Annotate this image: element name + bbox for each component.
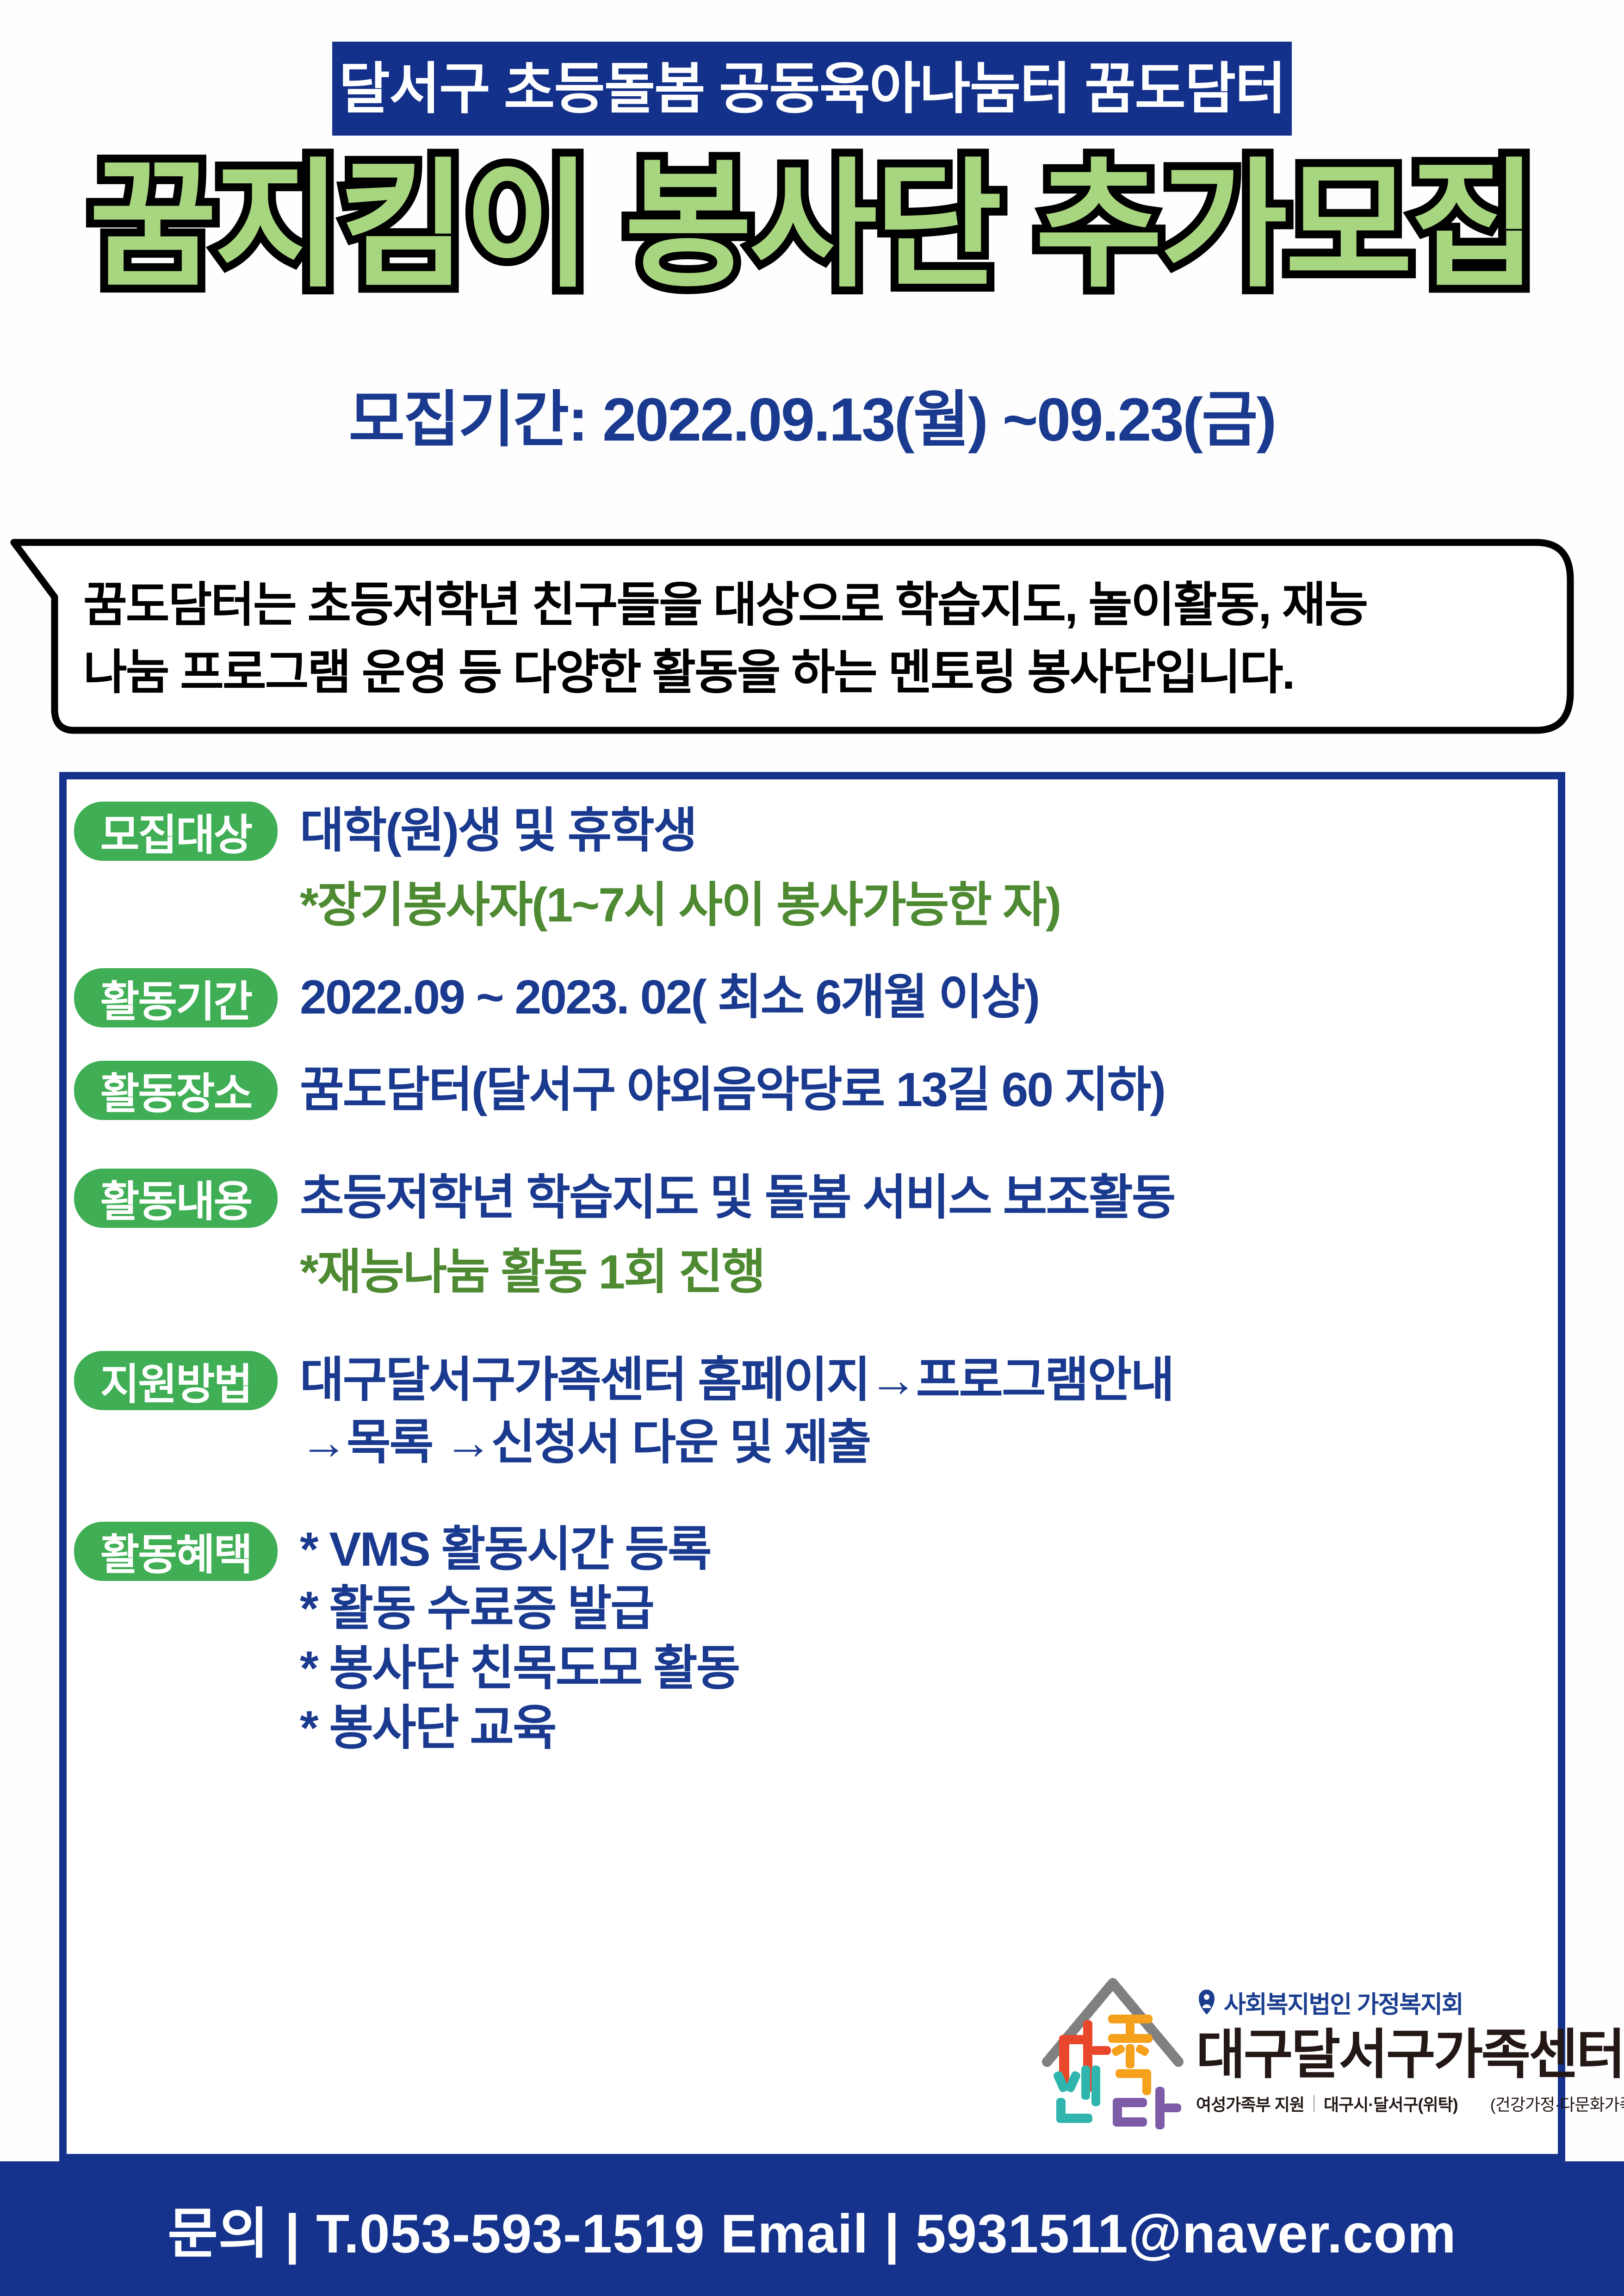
detail-line: 2022.09 ~ 2023. 02( 최소 6개월 이상) — [300, 966, 1555, 1029]
detail-label-activity: 활동내용 — [74, 1169, 278, 1228]
description-text: 꿈도담터는 초등저학년 친구들을 대상으로 학습지도, 놀이활동, 재능 나눔 … — [83, 571, 1541, 707]
detail-note: *장기봉사자(1~7시 사이 봉사가능한 자) — [300, 874, 1555, 937]
detail-label-period: 활동기간 — [74, 968, 278, 1027]
recruitment-period: 모집기간: 2022.09.13(월) ~09.23(금) — [0, 370, 1624, 459]
logo-wordmark: 사회복지법인 가정복지회 대구달서구가족센터 여성가족부 지원 대구시·달서구(… — [1196, 1980, 1624, 2116]
logo-subline: 여성가족부 지원 대구시·달서구(위탁) (건강가정·다문화가족지원센터) — [1196, 2091, 1624, 2116]
logo-char-jok — [1108, 2015, 1153, 2095]
corporation-line: 사회복지법인 가정복지회 — [1196, 1985, 1624, 2020]
corporation-name: 사회복지법인 가정복지회 — [1224, 1985, 1463, 2020]
center-type-note: (건강가정·다문화가족지원센터) — [1490, 2091, 1624, 2116]
details-row-list: 모집대상 대학(원)생 및 휴학생 *장기봉사자(1~7시 사이 봉사가능한 자… — [74, 799, 1555, 1774]
spacer — [74, 1137, 1555, 1166]
detail-label-apply: 지원방법 — [74, 1351, 278, 1410]
detail-note: *재능나눔 활동 1회 진행 — [300, 1241, 1555, 1304]
spacer — [74, 1490, 1555, 1519]
spacer — [74, 1319, 1555, 1348]
detail-value-location: 꿈도담터(달서구 야외음악당로 13길 60 지하) — [300, 1058, 1555, 1121]
detail-row-activity: 활동내용 초등저학년 학습지도 및 돌봄 서비스 보조활동 *재능나눔 활동 1… — [74, 1166, 1555, 1304]
spacer — [74, 1045, 1555, 1058]
top-banner: 달서구 초등돌봄 공동육아나눔터 꿈도담터 — [332, 42, 1292, 136]
poster-root: 달서구 초등돌봄 공동육아나눔터 꿈도담터 꿈지킴이 봉사단 추가모집 모집기간… — [0, 0, 1624, 2296]
detail-line: 초등저학년 학습지도 및 돌봄 서비스 보조활동 — [300, 1167, 1555, 1229]
benefit-item: * 봉사단 교육 — [300, 1699, 1555, 1758]
support-label: 여성가족부 지원 — [1196, 2091, 1304, 2116]
entrust-label: 대구시·달서구(위탁) — [1324, 2091, 1458, 2116]
description-line-2: 나눔 프로그램 운영 등 다양한 활동을 하는 멘토링 봉사단입니다. — [83, 639, 1541, 706]
logo-char-sen — [1053, 2066, 1100, 2123]
detail-row-period: 활동기간 2022.09 ~ 2023. 02( 최소 6개월 이상) — [74, 965, 1555, 1029]
detail-label-location: 활동장소 — [74, 1061, 278, 1120]
benefit-item: * 봉사단 친목도모 활동 — [300, 1639, 1555, 1699]
detail-row-benefits: 활동혜택 * VMS 활동시간 등록 * 활동 수료증 발급 * 봉사단 친목도… — [74, 1519, 1555, 1759]
detail-line: →목록 →신청서 다운 및 제출 — [300, 1412, 1555, 1474]
detail-row-location: 활동장소 꿈도담터(달서구 야외음악당로 13길 60 지하) — [74, 1058, 1555, 1121]
divider — [1314, 2095, 1314, 2112]
organization-logo: 사회복지법인 가정복지회 대구달서구가족센터 여성가족부 지원 대구시·달서구(… — [1039, 1955, 1543, 2140]
detail-line: 대구달서구가족센터 홈페이지→프로그램안내 — [300, 1349, 1555, 1412]
page-title: 꿈지킴이 봉사단 추가모집 — [0, 153, 1624, 299]
contact-footer: 문의 | T.053-593-1519 Email | 5931511@nave… — [0, 2161, 1624, 2296]
spacer — [74, 952, 1555, 965]
top-banner-text: 달서구 초등돌봄 공동육아나눔터 꿈도담터 — [339, 61, 1285, 117]
contact-text: 문의 | T.053-593-1519 Email | 5931511@nave… — [167, 2189, 1456, 2268]
center-name: 대구달서구가족센터 — [1196, 2025, 1624, 2084]
description-line-1: 꿈도담터는 초등저학년 친구들을 대상으로 학습지도, 놀이활동, 재능 — [83, 571, 1541, 639]
detail-value-period: 2022.09 ~ 2023. 02( 최소 6개월 이상) — [300, 965, 1555, 1029]
detail-label-benefits: 활동혜택 — [74, 1522, 278, 1581]
detail-value-target: 대학(원)생 및 휴학생 *장기봉사자(1~7시 사이 봉사가능한 자) — [300, 799, 1555, 937]
welfare-emblem-icon — [1196, 1988, 1217, 2016]
benefit-item: * VMS 활동시간 등록 — [300, 1520, 1555, 1580]
detail-label-target: 모집대상 — [74, 802, 278, 861]
detail-value-apply: 대구달서구가족센터 홈페이지→프로그램안내 →목록 →신청서 다운 및 제출 — [300, 1348, 1555, 1474]
family-center-logo-mark — [1039, 1965, 1187, 2131]
detail-line: 꿈도담터(달서구 야외음악당로 13길 60 지하) — [300, 1059, 1555, 1121]
benefit-item: * 활동 수료증 발급 — [300, 1579, 1555, 1639]
detail-value-benefits: * VMS 활동시간 등록 * 활동 수료증 발급 * 봉사단 친목도모 활동 … — [300, 1519, 1555, 1759]
detail-line: 대학(원)생 및 휴학생 — [300, 800, 1555, 862]
detail-value-activity: 초등저학년 학습지도 및 돌봄 서비스 보조활동 *재능나눔 활동 1회 진행 — [300, 1166, 1555, 1304]
description-speech-bubble: 꿈도담터는 초등저학년 친구들을 대상으로 학습지도, 놀이활동, 재능 나눔 … — [5, 537, 1578, 736]
detail-row-apply: 지원방법 대구달서구가족센터 홈페이지→프로그램안내 →목록 →신청서 다운 및… — [74, 1348, 1555, 1474]
detail-row-target: 모집대상 대학(원)생 및 휴학생 *장기봉사자(1~7시 사이 봉사가능한 자… — [74, 799, 1555, 937]
logo-syllable-glyphs — [1039, 1965, 1187, 2131]
